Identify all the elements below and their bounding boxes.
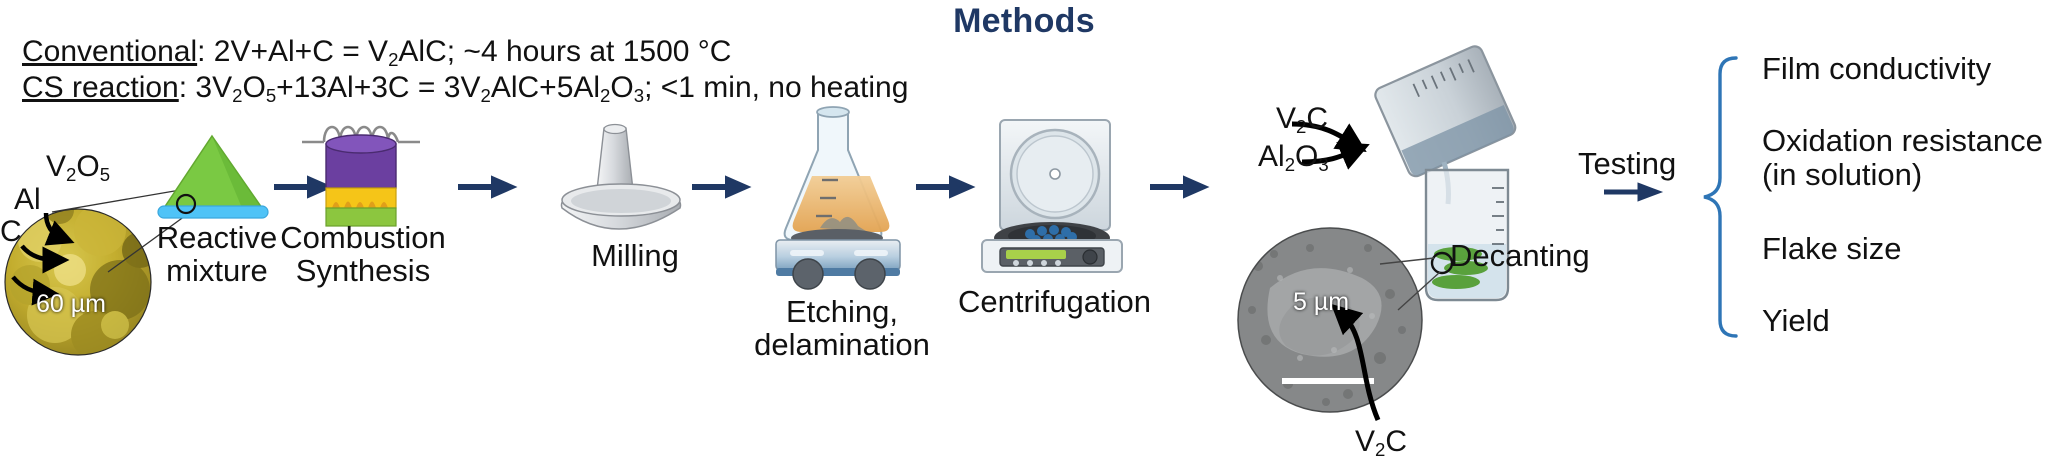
centrifuge-body <box>982 240 1122 272</box>
equation-conventional: Conventional: 2V+Al+C = V2AlC; ~4 hours … <box>22 36 731 70</box>
precursor-scalebar <box>34 372 124 377</box>
icon-centrifuge <box>960 112 1140 282</box>
step-label-milling: Milling <box>560 240 710 273</box>
sem-micrograph <box>1238 228 1422 412</box>
label-decant-v2c: V2C <box>1276 102 1328 138</box>
testing-item-film-conductivity: Film conductivity <box>1762 52 1991 85</box>
flow-arrow-3 <box>692 178 748 201</box>
mortar <box>561 184 680 229</box>
label-decant-al2o3: Al2O3 <box>1258 140 1329 176</box>
step-label-decanting: Decanting <box>1450 240 1640 273</box>
precursor-scalebar-text: 60 µm <box>36 290 106 319</box>
icon-combustion-synthesis <box>296 118 426 228</box>
flow-arrow-2 <box>458 178 514 201</box>
centrifuge-knob <box>1083 250 1097 264</box>
receiving-beaker <box>1426 170 1508 300</box>
centrifuge-display <box>1006 250 1066 259</box>
sem-scalebar <box>1282 378 1374 384</box>
icon-mortar-pestle <box>552 120 712 240</box>
hotplate-stirrer <box>776 229 900 289</box>
sem-caption-v2c: V2C <box>1355 425 1407 461</box>
testing-item-flake-size: Flake size <box>1762 232 1902 265</box>
testing-item-yield: Yield <box>1762 304 1830 337</box>
testing-item-oxidation-resistance-sub: (in solution) <box>1762 158 1922 191</box>
flow-arrow-5 <box>1150 178 1206 201</box>
step-label-etching: Etching, delamination <box>722 296 962 361</box>
icon-etching-hotplate <box>742 98 942 288</box>
erlenmeyer-flask <box>785 107 890 240</box>
sem-scalebar-text: 5 µm <box>1293 288 1349 317</box>
hotplate-knob-right <box>855 259 885 289</box>
flow-arrow-testing <box>1604 184 1660 205</box>
label-v2o5: V2O5 <box>46 150 110 186</box>
equation-conventional-label: Conventional <box>22 35 197 68</box>
centrifuge-lid <box>1000 120 1110 230</box>
equation-cs-reaction-label: CS reaction <box>22 71 179 104</box>
hotplate-knob-left <box>793 259 823 289</box>
step-label-combustion-synthesis: Combustion Synthesis <box>270 222 456 287</box>
step-label-centrifugation: Centrifugation <box>958 286 1148 319</box>
testing-item-oxidation-resistance: Oxidation resistance <box>1762 124 2043 157</box>
crucible <box>326 135 396 226</box>
icon-reactive-mixture <box>150 130 280 230</box>
precursor-micrograph <box>5 196 158 359</box>
pouring-beaker <box>1373 44 1518 179</box>
label-al: Al <box>14 183 41 217</box>
label-c: C <box>0 215 22 249</box>
testing-brace <box>1690 52 1760 342</box>
